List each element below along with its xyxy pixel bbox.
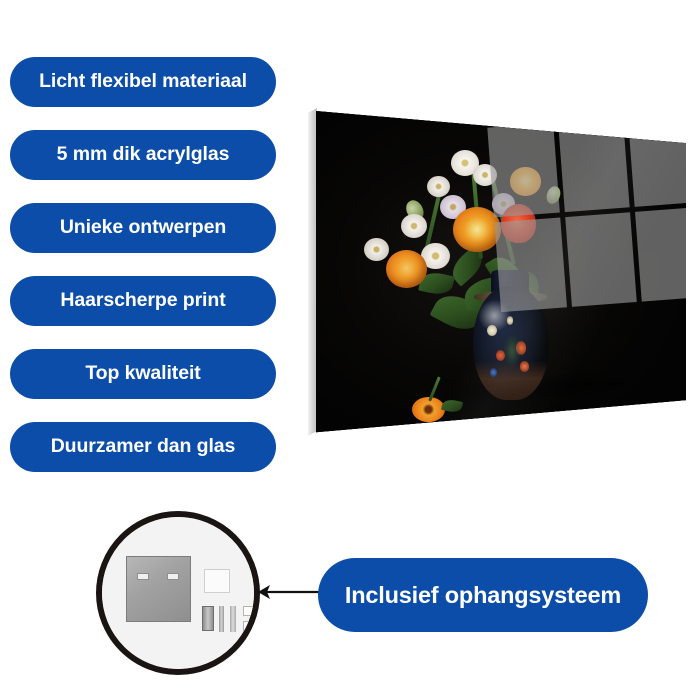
acrylglas-edge [308, 108, 317, 436]
callout-badge-inclusief-ophangsysteem[interactable]: Inclusief ophangsysteem [318, 558, 648, 632]
feature-badge-5-mm-dik-acrylglas[interactable]: 5 mm dik acrylglas [10, 130, 276, 180]
feature-badge-top-kwaliteit[interactable]: Top kwaliteit [10, 349, 276, 399]
feature-badge-label: Licht flexibel materiaal [39, 72, 247, 92]
feature-badge-licht-flexibel-materiaal[interactable]: Licht flexibel materiaal [10, 57, 276, 107]
feature-badge-label: 5 mm dik acrylglas [57, 145, 230, 165]
mounting-plate [126, 556, 191, 622]
artwork-vase-motif [504, 336, 521, 366]
feature-badge-duurzamer-dan-glas[interactable]: Duurzamer dan glas [10, 422, 276, 472]
artwork-panel [316, 100, 686, 445]
reflection-pane [627, 112, 686, 207]
artwork-flower-white [364, 238, 388, 261]
mounting-instruction-leaflet [204, 569, 230, 593]
feature-badge-label: Duurzamer dan glas [51, 437, 236, 457]
mounting-plate-slot [167, 573, 179, 580]
mounting-wall-plug [230, 606, 236, 632]
mounting-plate-slot [137, 573, 149, 580]
reflection-pane [487, 123, 559, 218]
artwork-vase-motif [490, 368, 497, 377]
mounting-screw [219, 606, 224, 632]
artwork-vase-lower [473, 361, 549, 400]
reflection-pane [635, 207, 686, 302]
artwork-flower-white [401, 214, 427, 238]
feature-badge-label: Unieke ontwerpen [60, 218, 226, 238]
mounting-kit-photo [96, 514, 260, 675]
mounting-spacer-pad [243, 621, 254, 631]
reflection-pane [564, 212, 636, 307]
artwork-vase-motif [520, 361, 528, 371]
mounting-system-detail-circle[interactable] [96, 511, 260, 675]
feature-badge-label: Top kwaliteit [85, 364, 200, 384]
feature-badge-haarscherpe-print[interactable]: Haarscherpe print [10, 276, 276, 326]
glass-window-reflection [483, 108, 687, 317]
callout-badge-label: Inclusief ophangsysteem [345, 582, 621, 609]
reflection-pane [494, 218, 566, 313]
feature-badge-label: Haarscherpe print [60, 291, 225, 311]
mounting-spacer-pad [243, 606, 254, 616]
artwork-vase-motif [487, 325, 497, 336]
reflection-pane [557, 118, 629, 213]
artwork-flower-white [427, 176, 450, 197]
artwork-flower-orange [386, 250, 427, 288]
feature-badge-list: Licht flexibel materiaal 5 mm dik acrylg… [10, 57, 276, 495]
artwork-vase-motif [507, 316, 514, 325]
feature-badge-unieke-ontwerpen[interactable]: Unieke ontwerpen [10, 203, 276, 253]
product-preview-acrylglas-print[interactable] [308, 100, 686, 445]
mounting-bracket [202, 606, 214, 631]
